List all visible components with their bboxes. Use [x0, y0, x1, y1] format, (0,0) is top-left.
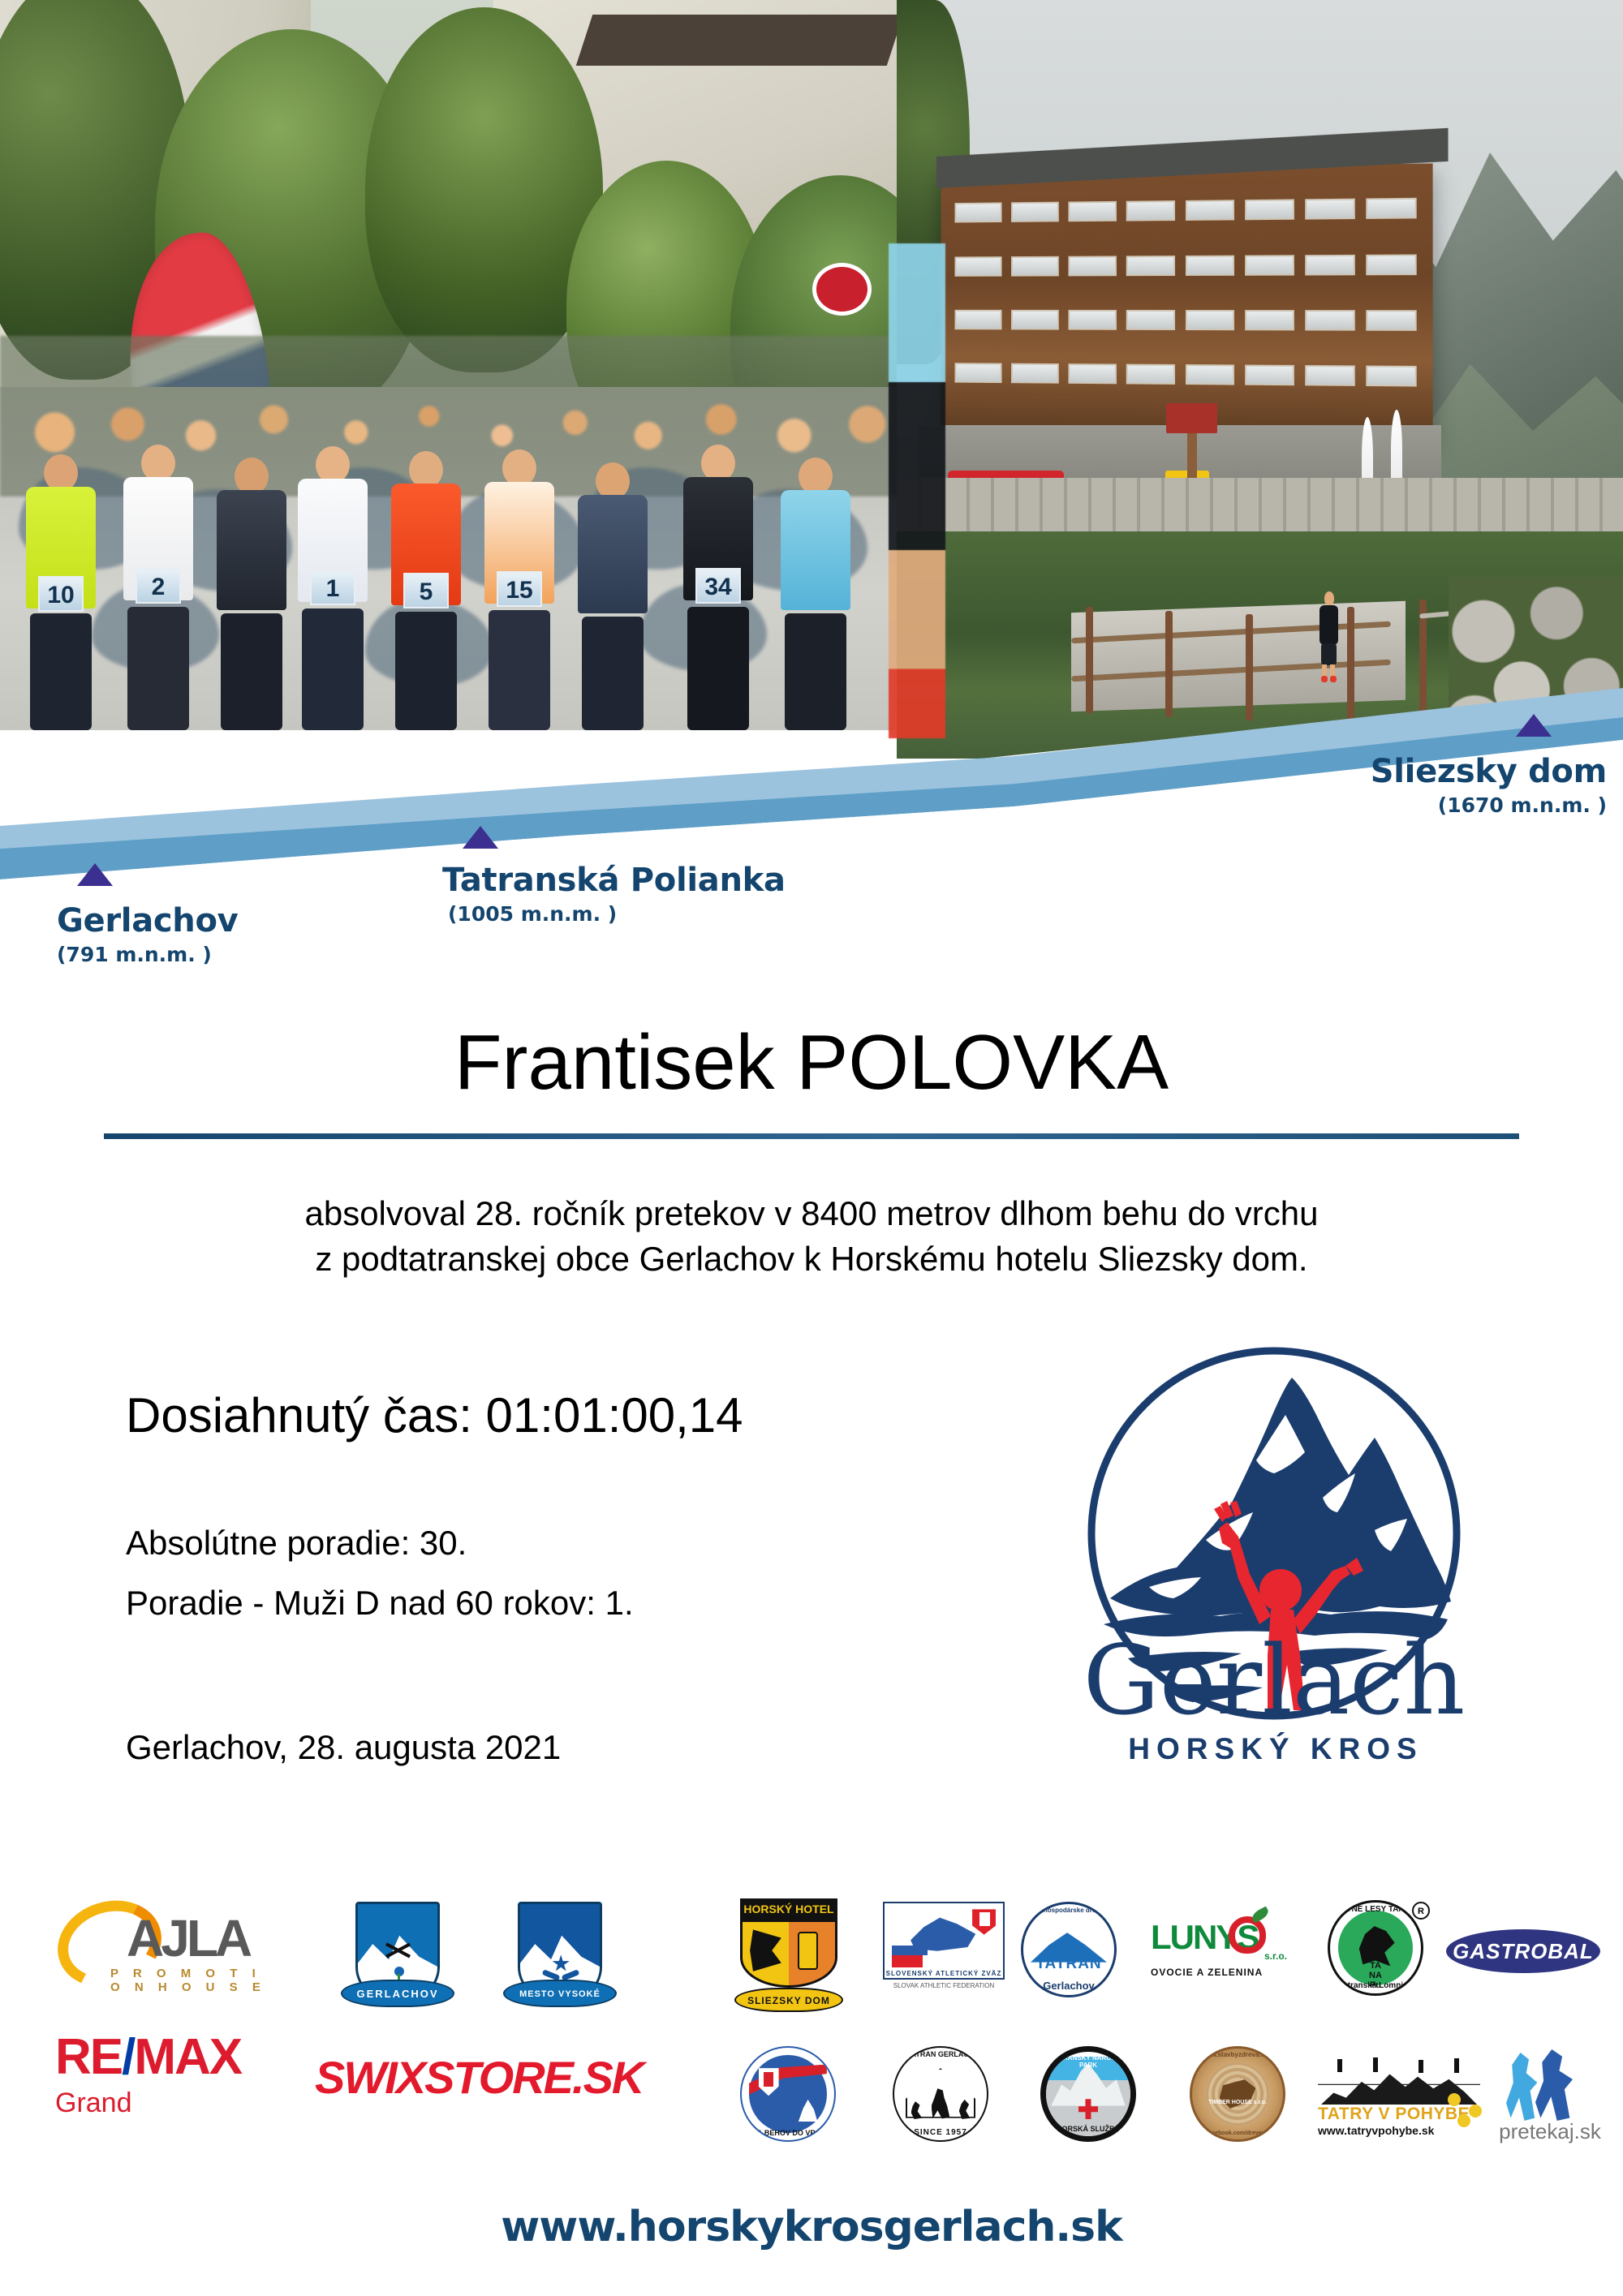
- elevation-marker-sliezsky-dom: [1516, 714, 1552, 737]
- sponsor-saz-label: SLOVENSKÝ ATLETICKÝ ZVÄZ: [885, 1970, 1003, 1977]
- sponsor-tatry-v-pohybe[interactable]: TATRY V POHYBE www.tatryvpohybe.sk: [1318, 2057, 1480, 2137]
- photo-sliezsky-dom: [897, 0, 1623, 759]
- marker-altitude-tatranska-polianka: (1005 m.n.m. ): [448, 902, 617, 926]
- finish-time: Dosiahnutý čas: 01:01:00,14: [126, 1387, 743, 1443]
- sponsor-slovensky-atleticky-zvaz[interactable]: SLOVENSKÝ ATLETICKÝ ZVÄZ SLOVAK ATHLETIC…: [883, 1902, 1013, 1989]
- body-line-1: absolvoval 28. ročník pretekov v 8400 me…: [0, 1191, 1623, 1236]
- runner-figure: 1: [288, 446, 377, 730]
- circle-badge-icon: www.stavbyzdreva.com TIMBER HOUSE s.r.o.…: [1190, 2046, 1285, 2142]
- runner-figure: 34: [674, 445, 763, 730]
- sponsor-remax-grand[interactable]: RE/MAX Grand: [55, 2028, 274, 2119]
- sponsor-unia-behov-do-vrchu[interactable]: ÚNIA BEHOV DO VRCHU: [740, 2046, 836, 2142]
- sponsor-lunys[interactable]: LUNYS s.r.o. OVOCIE A ZELENINA: [1151, 1918, 1281, 1978]
- marker-label-tatranska-polianka: Tatranská Polianka: [442, 862, 786, 899]
- elevation-marker-tatranska-polianka: [463, 826, 498, 849]
- sponsor-horska-sluzba-tanap[interactable]: TATRANSKÝ NÁRODNÝ PARK HORSKÁ SLUŽBA: [1040, 2046, 1136, 2142]
- sponsor-szd-arc-top: www.stavbyzdreva.com: [1192, 2051, 1283, 2058]
- sponsor-tvp-url: www.tatryvpohybe.sk: [1318, 2124, 1480, 2137]
- rank-category: Poradie - Muži D nad 60 rokov: 1.: [126, 1584, 634, 1623]
- sponsor-saz-sublabel: SLOVAK ATHLETIC FEDERATION: [883, 1982, 1005, 1989]
- sponsor-ajla-subtitle: P R O M O T I O N H O U S E: [110, 1967, 276, 1994]
- triangle-marker-icon: [463, 826, 498, 849]
- sponsor-pd-arc-top: Poľnohospodárske družstvo: [1023, 1907, 1114, 1914]
- sponsor-tvp-name: TATRY V POHYBE: [1318, 2105, 1480, 2124]
- sponsor-gerlachov-label: GERLACHOV: [341, 1980, 454, 2007]
- triangle-marker-icon: [77, 863, 113, 886]
- certificate-body: absolvoval 28. ročník pretekov v 8400 me…: [0, 1191, 1623, 1283]
- sponsor-ajla-name: AJLA: [127, 1908, 249, 1968]
- gerlach-horsky-kros-logo: Gerlach HORSKÝ KROS: [1047, 1331, 1501, 1817]
- runner-figure: [771, 458, 860, 730]
- circle-badge-icon: TATRANSKÝ NÁRODNÝ PARK HORSKÁ SLUŽBA: [1040, 2046, 1136, 2142]
- sponsor-hotel-ribbon: SLIEZSKY DOM: [734, 1988, 843, 2012]
- page-title: Frantisek POLOVKA: [0, 1018, 1623, 1107]
- sponsor-gerlachov-coat-of-arms[interactable]: GERLACHOV: [355, 1902, 440, 2004]
- sponsor-hs-arc-bottom: HORSKÁ SLUŽBA: [1046, 2125, 1130, 2133]
- sponsor-horsky-hotel-sliezsky-dom[interactable]: HORSKÝ HOTEL SLIEZSKY DOM: [740, 1898, 846, 2012]
- sponsor-ajla[interactable]: AJLA P R O M O T I O N H O U S E: [57, 1897, 276, 1994]
- sponsor-gastrobal[interactable]: GASTROBAL: [1446, 1929, 1600, 1973]
- sponsor-pretekaj[interactable]: pretekaj.sk: [1493, 2049, 1607, 2144]
- logo-wordmark: Gerlach: [1083, 1624, 1466, 1736]
- sponsor-logos: AJLA P R O M O T I O N H O U S E RE/MAX …: [0, 1890, 1623, 2207]
- marker-label-gerlachov: Gerlachov: [57, 902, 238, 939]
- runner-figure: [207, 458, 296, 730]
- sponsor-tjtg-arc-top: TJ TATRAN GERLACHOV: [894, 2050, 987, 2058]
- sponsor-tj-tatran-gerlachov[interactable]: TJ TATRAN GERLACHOV SINCE 1957: [893, 2046, 988, 2142]
- runner-figure-edge: [889, 243, 945, 738]
- circle-badge-icon: ŠTÁTNE LESY TANAPu TANAPu Tatranská Lomn…: [1328, 1900, 1423, 1996]
- sponsor-gastrobal-name: GASTROBAL: [1446, 1929, 1600, 1973]
- edelweiss-icon: [1448, 2093, 1461, 2106]
- circle-badge-icon: Poľnohospodárske družstvo TATRAN Gerlach…: [1021, 1902, 1117, 1997]
- divider: [104, 1133, 1519, 1139]
- place-and-date: Gerlachov, 28. augusta 2021: [126, 1728, 561, 1767]
- sponsor-pd-town: Gerlachov: [1023, 1980, 1114, 1992]
- runner-figure: [568, 462, 657, 730]
- photo-banner: 10 2 1 5 15: [0, 0, 1623, 811]
- sponsor-szd-arc-bottom: www.facebook.com/drevenestavby: [1192, 2130, 1283, 2136]
- sponsor-szd-company: TIMBER HOUSE s.r.o.: [1192, 2100, 1283, 2105]
- photo-race-start: 10 2 1 5 15: [0, 0, 913, 730]
- runner-figure: 2: [114, 445, 203, 730]
- sponsor-hs-arc-top: TATRANSKÝ NÁRODNÝ PARK: [1046, 2054, 1130, 2069]
- website-url[interactable]: www.horskykrosgerlach.sk: [0, 2203, 1623, 2251]
- marker-altitude-sliezsky-dom: (1670 m.n.m. ): [1363, 793, 1607, 817]
- runner-figure: 10: [16, 454, 105, 730]
- triangle-marker-icon: [1516, 714, 1552, 737]
- runner-figure: [1318, 591, 1340, 682]
- runner-silhouette-icon: [1506, 2053, 1539, 2121]
- sponsor-tjtg-since: SINCE 1957: [894, 2128, 987, 2137]
- sponsor-slt-arc-top: ŠTÁTNE LESY TANAPu: [1330, 1905, 1421, 1914]
- runner-silhouette-icon: [1535, 2049, 1573, 2121]
- rank-absolute: Absolútne poradie: 30.: [126, 1524, 467, 1563]
- runner-figure: 15: [475, 449, 564, 730]
- logo-tagline: HORSKÝ KROS: [1128, 1732, 1423, 1765]
- circle-badge-icon: ÚNIA BEHOV DO VRCHU: [740, 2046, 836, 2142]
- marker-label-sliezsky-dom: Sliezsky dom: [1363, 753, 1607, 790]
- elevation-marker-gerlachov: [77, 863, 113, 886]
- sponsor-pd-tatran-gerlachov[interactable]: Poľnohospodárske družstvo TATRAN Gerlach…: [1021, 1902, 1117, 1997]
- sponsor-pd-name: TATRAN: [1023, 1955, 1114, 1973]
- runner-figure: 5: [381, 451, 471, 730]
- body-line-2: z podtatranskej obce Gerlachov k Horském…: [0, 1236, 1623, 1282]
- sponsor-slt-town: Tatranská Lomnica: [1330, 1981, 1421, 1990]
- sponsor-stavbyzdreva[interactable]: www.stavbyzdreva.com TIMBER HOUSE s.r.o.…: [1190, 2046, 1285, 2142]
- sponsor-statne-lesy-tanapu[interactable]: ŠTÁTNE LESY TANAPu TANAPu Tatranská Lomn…: [1328, 1900, 1423, 1996]
- apple-icon: [1229, 1916, 1266, 1954]
- sponsor-vysoke-tatry-coat-of-arms[interactable]: MESTO VYSOKÉ TATRY: [518, 1902, 602, 2004]
- sponsor-vysoke-tatry-label: MESTO VYSOKÉ TATRY: [503, 1980, 617, 2007]
- sponsor-swixstore[interactable]: SWIXSTORE.SK: [315, 2051, 643, 2104]
- sponsor-lunys-suffix: s.r.o.: [1264, 1950, 1287, 1962]
- registered-icon: R: [1412, 1902, 1430, 1920]
- sponsor-hotel-topbar: HORSKÝ HOTEL: [740, 1898, 837, 1920]
- circle-badge-icon: TJ TATRAN GERLACHOV SINCE 1957: [893, 2046, 988, 2142]
- marker-altitude-gerlachov: (791 m.n.m. ): [57, 943, 212, 966]
- sponsor-remax-name: RE/MAX: [55, 2028, 274, 2086]
- sponsor-ubdv-label: ÚNIA BEHOV DO VRCHU: [742, 2129, 834, 2137]
- sponsor-remax-subtitle: Grand: [55, 2087, 274, 2119]
